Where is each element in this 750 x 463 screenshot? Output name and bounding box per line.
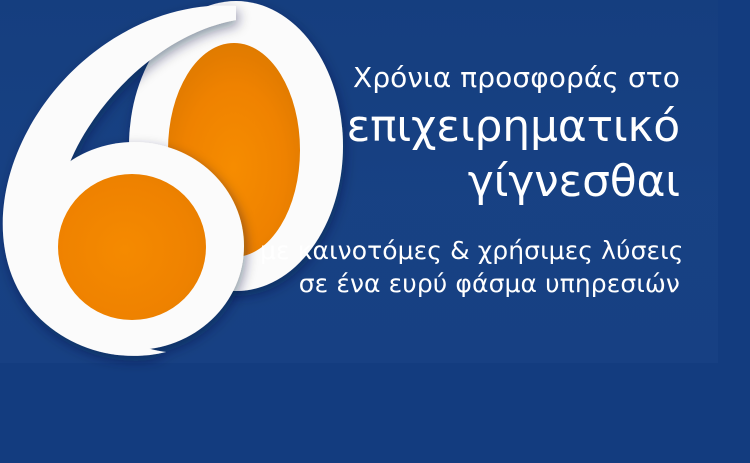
headline-line-2: επιχειρηματικό [260,98,680,155]
headline-line-1: Χρόνια προσφοράς στο [260,58,680,98]
anniversary-banner: Χρόνια προσφοράς στο επιχειρηματικό γίγν… [0,0,750,463]
subhead-line-2: σε ένα ευρύ φάσμα υπηρεσιών [260,267,680,300]
headline-block: Χρόνια προσφοράς στο επιχειρηματικό γίγν… [260,58,680,300]
headline-line-3: γίγνεσθαι [260,153,680,210]
subhead-block: με καινοτόμες & χρήσιμες λύσεις σε ένα ε… [260,234,680,300]
subhead-line-1: με καινοτόμες & χρήσιμες λύσεις [260,234,680,267]
